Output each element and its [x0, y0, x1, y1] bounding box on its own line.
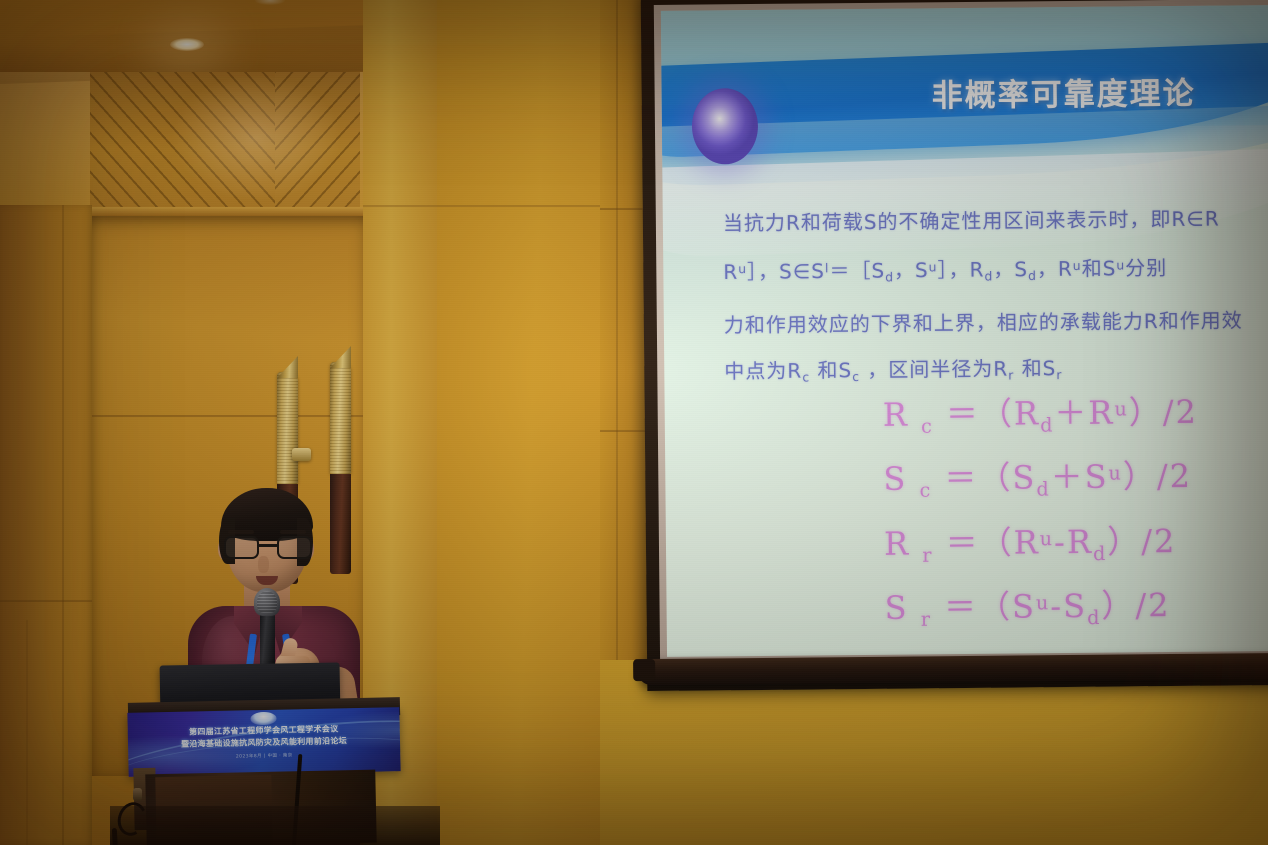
speaker-eyebrow-right: [280, 530, 306, 534]
slide-orb-graphic: [692, 88, 759, 165]
banner-logo-icon: [250, 712, 276, 726]
left-wall-seam-vertical: [62, 205, 64, 845]
projection-screen: 非概率可靠度理论 当抗力R和荷载S的不确定性用区间来表示时，即R∈R Ru］，S…: [641, 0, 1268, 691]
slide-body-line-2: Ru］，S∈Sl＝［Sd，Su］，Rd，Sd，Ru和Su分别: [723, 240, 1268, 302]
slat-group-right: [275, 72, 360, 212]
slide-body-line-3: 力和作用效应的下界和上界，相应的承载能力R和作用效: [724, 296, 1268, 348]
slide-title: 非概率可靠度理论: [931, 68, 1195, 116]
podium-knob: [133, 788, 142, 801]
sconce-gold-body: [277, 372, 298, 484]
glasses-lens-left: [224, 536, 259, 559]
left-wall-seam-vertical-2: [26, 620, 28, 845]
sconce-bracket: [292, 448, 311, 461]
slide-body-line-1: 当抗力R和荷载S的不确定性用区间来表示时，即R∈R: [723, 194, 1268, 246]
foreground-shadow: [110, 806, 440, 845]
projected-slide: 非概率可靠度理论 当抗力R和荷载S的不确定性用区间来表示时，即R∈R Ru］，S…: [661, 5, 1268, 657]
slat-group-left: [90, 72, 275, 212]
ceiling-spotlight-icon: [170, 38, 204, 51]
presentation-photo-scene: 非概率可靠度理论 当抗力R和荷载S的不确定性用区间来表示时，即R∈R Ru］，S…: [0, 0, 1268, 845]
slide-formula-block: R c ＝（Rd＋Ru）/2 S c ＝（Sd＋Su）/2 R r ＝（Ru-R…: [882, 384, 1200, 644]
formula-rr: R r ＝（Ru-Rd）/2: [884, 512, 1200, 579]
podium-banner-panel: 第四届江苏省工程师学会风工程学术会议 暨沿海基础设施抗风防灾及风能利用前沿论坛 …: [127, 707, 400, 777]
speaker-eyebrow-left: [228, 530, 254, 534]
sconce-gold-body: [330, 362, 351, 474]
screen-roller-endcap: [633, 659, 655, 681]
right-wall-seam-vertical: [616, 0, 618, 700]
left-wall-panel: [0, 205, 92, 845]
speaker-glasses: [224, 536, 312, 560]
wall-ledge: [88, 207, 363, 216]
wall-panel-seam: [88, 415, 363, 417]
glasses-bridge: [259, 544, 277, 547]
diagonal-slat-wall-panel: [90, 72, 360, 212]
microphone-head-icon: [254, 588, 280, 616]
formula-rc: R c ＝（Rd＋Ru）/2: [882, 384, 1198, 451]
formula-sc: S c ＝（Sd＋Su）/2: [883, 448, 1199, 515]
speaker-nose: [258, 556, 269, 573]
slide-body-text: 当抗力R和荷载S的不确定性用区间来表示时，即R∈R Ru］，S∈Sl＝［Sd，S…: [723, 194, 1268, 401]
wall-column-seam: [363, 205, 437, 207]
formula-sr: S r ＝（Su-Sd）/2: [884, 577, 1200, 644]
left-wall-seam-horizontal: [0, 600, 92, 602]
glasses-lens-right: [277, 536, 312, 559]
